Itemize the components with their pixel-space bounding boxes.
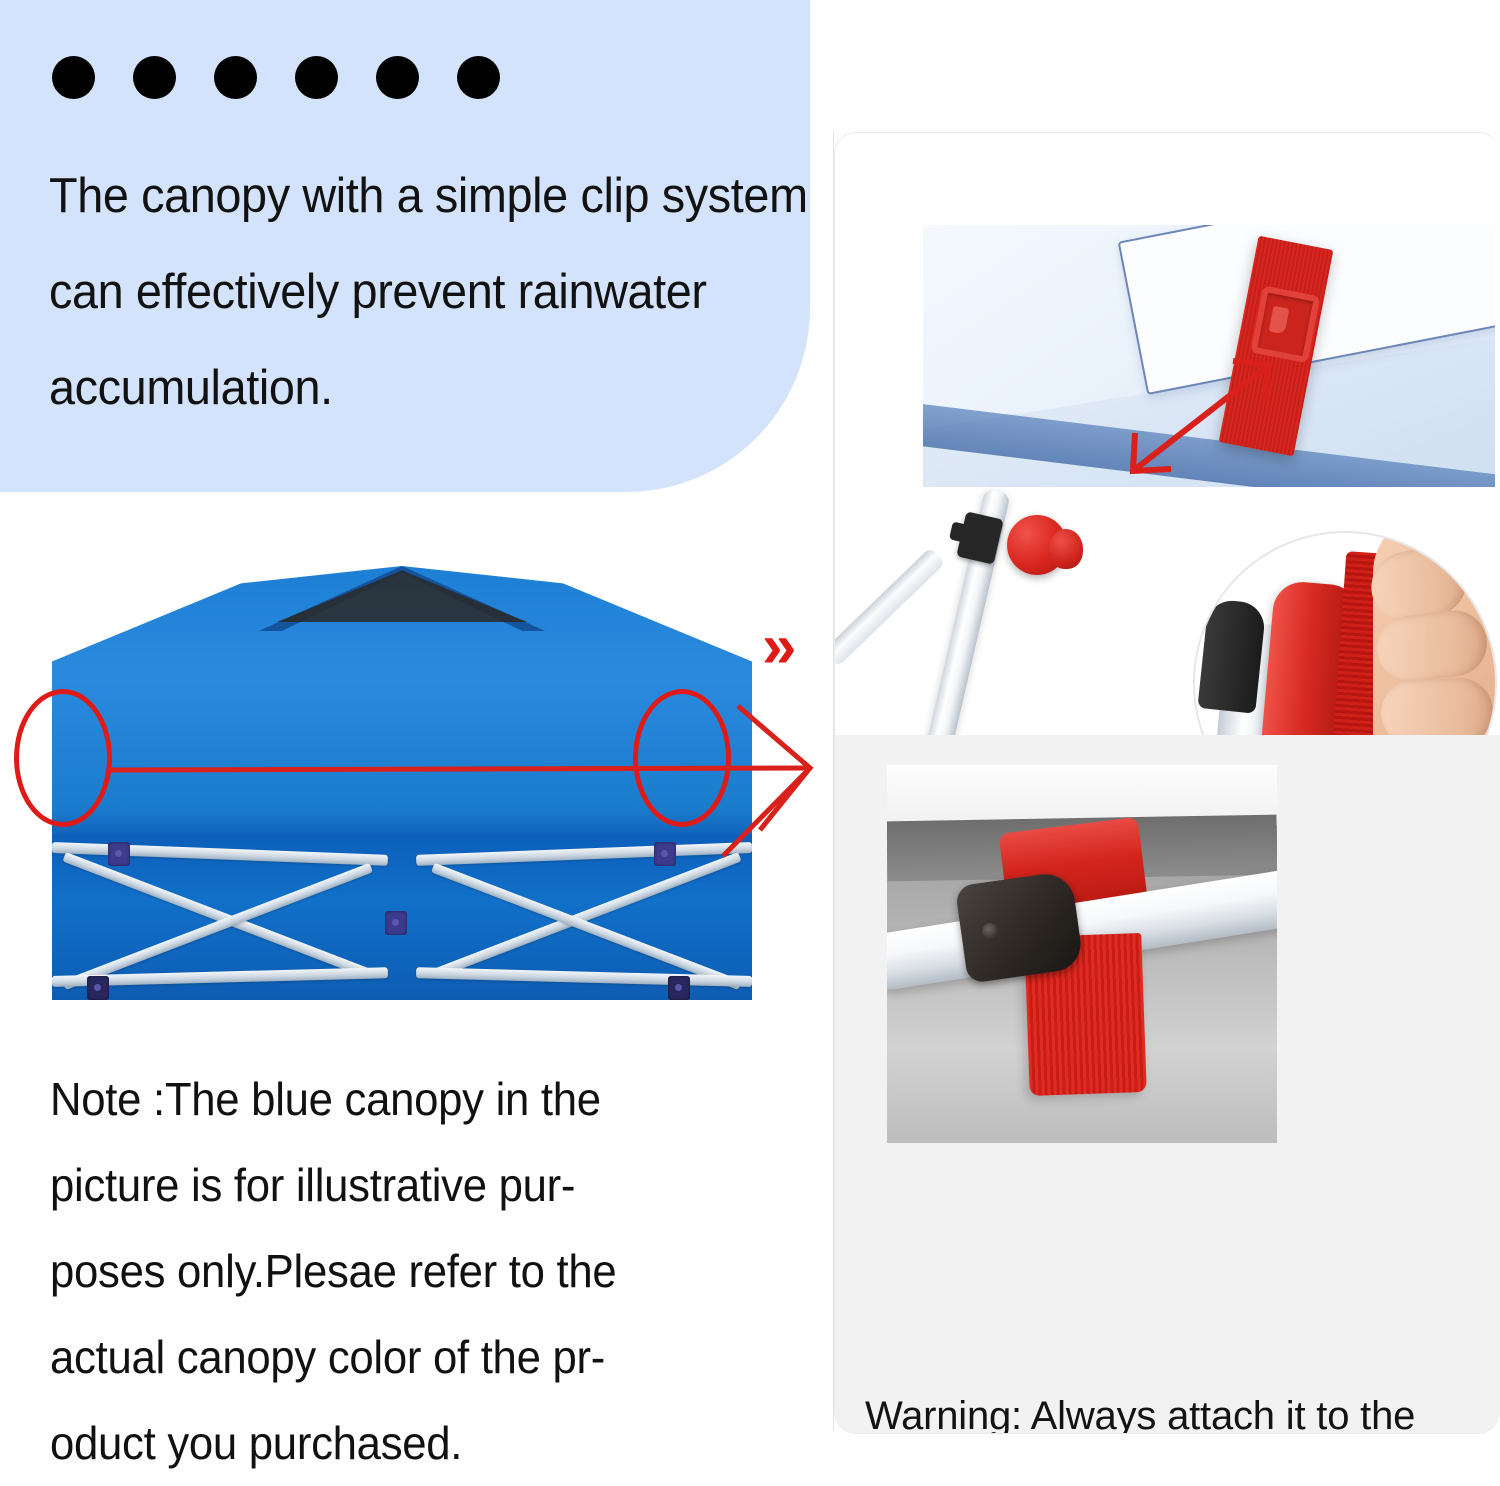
canopy-clip-node: [385, 911, 407, 935]
right-column-card: Canopy Top Eave Assembly: [834, 132, 1500, 1434]
bullet-dot-icon: [214, 56, 257, 99]
bullet-dot-icon: [457, 56, 500, 99]
bullet-dot-icon: [52, 56, 95, 99]
left-column: The canopy with a simple clip system can…: [0, 0, 834, 1442]
right-bottom-section: Warning: Always attach it to the eave to…: [835, 735, 1500, 1434]
bubble-dots-group: [52, 56, 500, 99]
chevron-double-right-icon: »: [762, 616, 786, 678]
canopy-clip-node: [668, 976, 690, 1000]
bullet-dot-icon: [133, 56, 176, 99]
black-hook-clip: [955, 871, 1085, 985]
eave-pole-knob-photo: [923, 463, 1223, 763]
headline-text: The canopy with a simple clip system can…: [49, 148, 813, 436]
red-knob-secondary: [1049, 529, 1083, 569]
bullet-dot-icon: [295, 56, 338, 99]
highlight-circle-right: [633, 689, 731, 827]
canopy-clip-node: [87, 976, 109, 1000]
white-pole-branch: [834, 547, 946, 667]
warning-text: Warning: Always attach it to the eave to…: [865, 1385, 1465, 1434]
black-clip: [956, 511, 1003, 564]
canopy-clip-node: [108, 842, 130, 866]
right-top-section: Canopy Top Eave Assembly: [835, 133, 1500, 733]
bullet-dot-icon: [376, 56, 419, 99]
note-text: Note :The blue canopy in the picture is …: [50, 1056, 715, 1486]
highlight-circle-left: [14, 689, 112, 827]
black-cap: [1197, 598, 1266, 713]
strap-attached-to-eave-photo: [887, 765, 1277, 1143]
canopy-clip-node: [654, 842, 676, 866]
canopy-top-strap-photo: [923, 225, 1495, 487]
speech-bubble: The canopy with a simple clip system can…: [0, 0, 810, 492]
